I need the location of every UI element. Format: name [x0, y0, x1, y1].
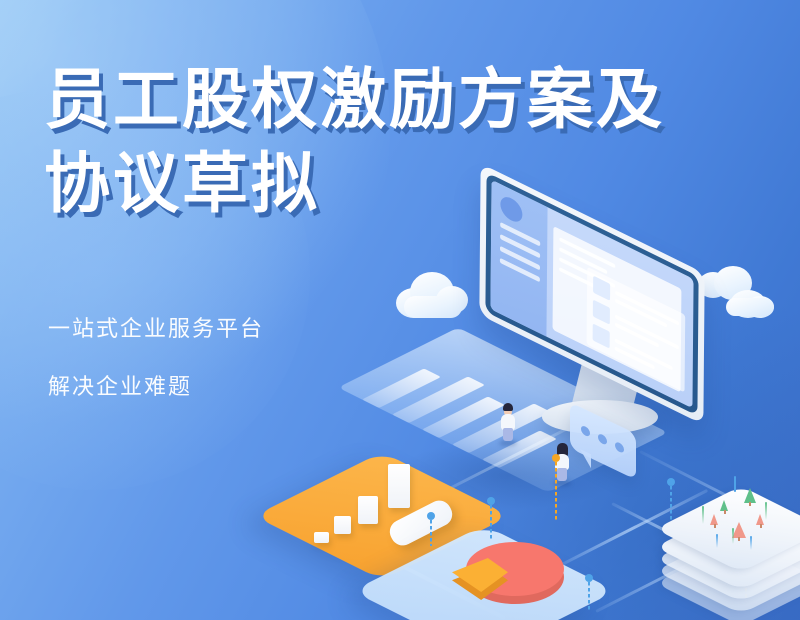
data-pin-blue: [588, 582, 590, 612]
data-pin-blue: [430, 520, 432, 546]
chat-dot: [615, 441, 624, 454]
bar-block-1: [388, 464, 410, 508]
pie-chart: [452, 528, 582, 618]
server-rod-blue: [750, 536, 752, 550]
tree-canopy-icon: [744, 488, 756, 503]
chat-dot: [581, 424, 590, 437]
tree-icon: [720, 500, 729, 514]
tree-icon: [756, 514, 765, 528]
tree-canopy-icon: [732, 522, 746, 538]
server-rod-blue: [716, 534, 718, 548]
bar-block-4: [314, 532, 329, 543]
subtitle-line-1: 一站式企业服务平台: [48, 311, 264, 343]
data-pin-blue: [490, 505, 492, 539]
person-hair: [503, 403, 513, 411]
page-title-line-2: 协议草拟: [44, 142, 784, 226]
server-rod-green: [765, 502, 767, 520]
person-legs: [557, 468, 567, 481]
subtitle-line-2: 解决企业难题: [48, 369, 192, 401]
server-stack: [664, 466, 800, 586]
promo-banner: 员工股权激励方案及 协议草拟 一站式企业服务平台 解决企业难题: [0, 0, 800, 620]
tree-trunk-icon: [738, 537, 740, 541]
person-legs: [503, 428, 513, 441]
data-pin-orange: [555, 462, 557, 522]
tree-icon: [710, 514, 719, 528]
bar-block-3: [334, 516, 351, 534]
tree-trunk-icon: [714, 524, 716, 528]
bar-block-2: [358, 496, 378, 524]
tree-trunk-icon: [749, 502, 751, 506]
headline-block: 员工股权激励方案及 协议草拟: [44, 58, 784, 226]
person-standing-left: [499, 403, 517, 443]
server-rod-green: [702, 506, 704, 524]
chat-dot: [598, 433, 607, 446]
tree-trunk-icon: [724, 510, 726, 514]
tree-trunk-icon: [760, 524, 762, 528]
server-rod-blue: [734, 476, 736, 492]
cloud-left: [396, 268, 470, 322]
server-rod-green: [732, 528, 734, 544]
tree-icon: [744, 488, 753, 502]
page-title-line-1: 员工股权激励方案及: [44, 58, 784, 142]
